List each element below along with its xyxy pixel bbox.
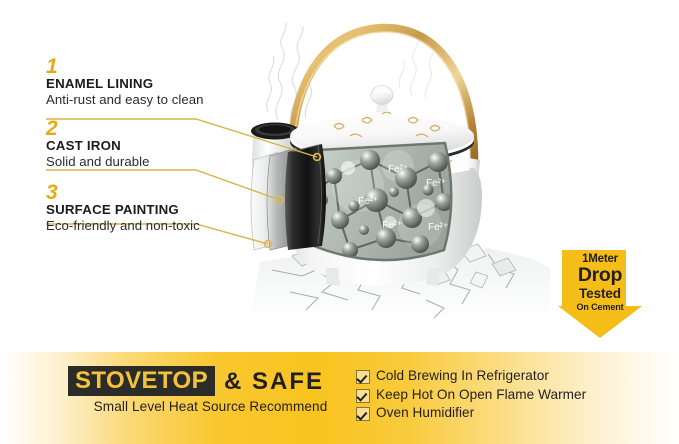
- feature-title-1: ENAMEL LINING: [46, 76, 296, 92]
- drop-badge-line4: On Cement: [552, 302, 648, 312]
- feature-callout-2: 2 CAST IRON Solid and durable: [46, 120, 296, 170]
- feature-number-1: 1: [46, 58, 296, 75]
- drop-badge-line2: Drop: [552, 264, 648, 287]
- banner-checklist: Cold Brewing In Refrigerator Keep Hot On…: [356, 367, 586, 423]
- feature-subtitle-1: Anti-rust and easy to clean: [46, 92, 296, 108]
- bottom-banner: STOVETOP & SAFE Small Level Heat Source …: [0, 352, 679, 444]
- check-icon: [356, 370, 370, 384]
- check-icon: [356, 407, 370, 421]
- stovetop-heading-block: STOVETOP & SAFE Small Level Heat Source …: [68, 366, 358, 414]
- feature-number-3: 3: [46, 184, 296, 201]
- feature-callout-3: 3 SURFACE PAINTING Eco-friendly and non-…: [46, 184, 296, 234]
- feature-title-3: SURFACE PAINTING: [46, 202, 296, 218]
- fe-ion-label: Fe²⁺: [358, 196, 378, 207]
- drop-badge-line3: Tested: [552, 286, 648, 301]
- stovetop-heading-line: STOVETOP & SAFE: [68, 366, 358, 396]
- fe-ion-label: Fe²⁺: [382, 220, 402, 231]
- checklist-item: Cold Brewing In Refrigerator: [356, 367, 586, 385]
- feature-number-2: 2: [46, 120, 296, 137]
- checklist-label: Keep Hot On Open Flame Warmer: [376, 386, 586, 404]
- feature-callout-list: 1 ENAMEL LINING Anti-rust and easy to cl…: [46, 58, 296, 242]
- drop-test-badge: 1Meter Drop Tested On Cement: [552, 248, 648, 340]
- infographic-canvas: Fe²⁺ Fe²⁺ Fe²⁺ Fe²⁺ Fe²⁺: [0, 0, 679, 444]
- checklist-label: Cold Brewing In Refrigerator: [376, 367, 549, 385]
- stovetop-label: STOVETOP: [68, 366, 215, 396]
- cutaway-molecular-view: Fe²⁺ Fe²⁺ Fe²⁺ Fe²⁺ Fe²⁺: [310, 143, 453, 260]
- feature-subtitle-3: Eco-friendly and non-toxic: [46, 218, 296, 234]
- fe-ion-label: Fe²⁺: [428, 222, 448, 233]
- fe-ion-label: Fe²⁺: [388, 164, 408, 175]
- fe-ion-label: Fe²⁺: [426, 178, 446, 189]
- stovetop-subtitle: Small Level Heat Source Recommend: [68, 399, 353, 414]
- check-icon: [356, 389, 370, 403]
- checklist-item: Keep Hot On Open Flame Warmer: [356, 386, 586, 404]
- checklist-item: Oven Humidifier: [356, 404, 586, 422]
- feature-callout-1: 1 ENAMEL LINING Anti-rust and easy to cl…: [46, 58, 296, 108]
- feature-title-2: CAST IRON: [46, 138, 296, 154]
- feature-subtitle-2: Solid and durable: [46, 154, 296, 170]
- checklist-label: Oven Humidifier: [376, 404, 474, 422]
- safe-label: & SAFE: [224, 369, 324, 394]
